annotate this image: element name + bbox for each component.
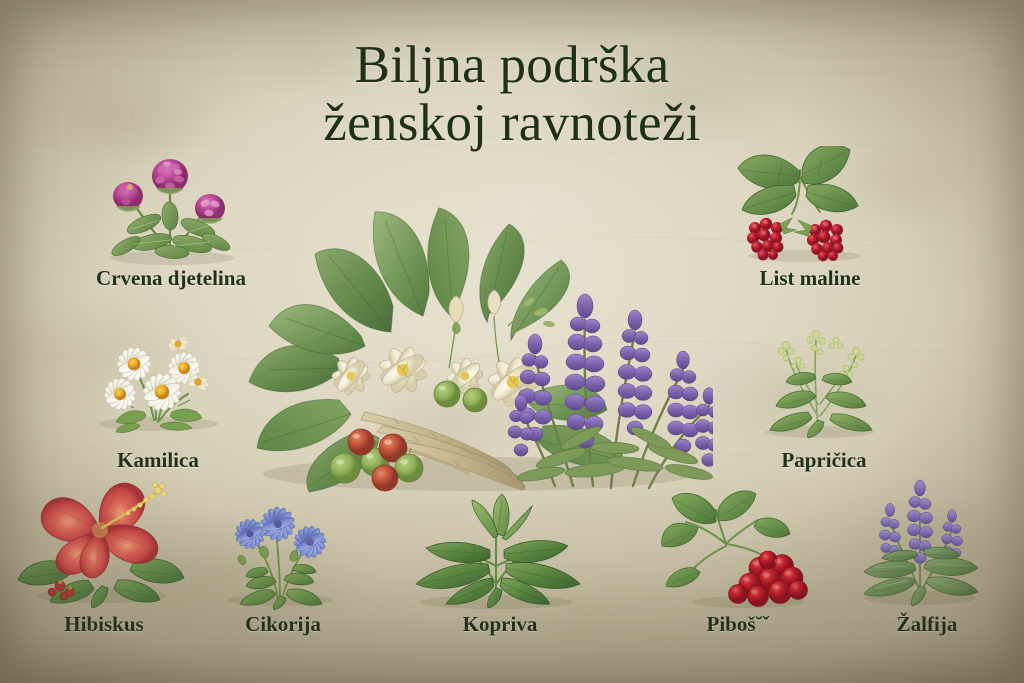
- specimen-crvena-djetelina: [82, 150, 262, 270]
- specimen-cikorija: [208, 492, 354, 610]
- label-cikorija: Cikorija: [198, 612, 368, 637]
- label-pibos: Piboš˘ˇ: [648, 612, 828, 637]
- nettle-illustration: [398, 492, 594, 612]
- red-berry-cluster-illustration: [660, 488, 826, 612]
- specimen-pibos: [660, 488, 826, 612]
- specimen-papricica: [748, 300, 894, 442]
- botanical-poster: Biljna podrška ženskoj ravnoteži: [0, 0, 1024, 683]
- label-list-maline: List maline: [690, 266, 930, 291]
- title-line-2: ženskoj ravnoteži: [0, 94, 1024, 152]
- hibiscus-illustration: [14, 468, 190, 608]
- label-kopriva: Kopriva: [410, 612, 590, 637]
- pepper-herb-illustration: [748, 300, 894, 442]
- raspberry-leaf-illustration: [722, 146, 882, 266]
- center-bouquet-illustration: [243, 186, 713, 496]
- specimen-kamilica: [74, 308, 240, 436]
- label-hibiskus: Hibiskus: [14, 612, 194, 637]
- red-clover-illustration: [82, 150, 262, 270]
- label-crvena-djetelina: Crvena djetelina: [56, 266, 286, 291]
- label-zalfija: Žalfija: [842, 612, 1012, 637]
- sage-illustration: [846, 470, 996, 610]
- specimen-kopriva: [398, 492, 594, 612]
- specimen-list-maline: [722, 146, 882, 266]
- page-title: Biljna podrška ženskoj ravnoteži: [0, 36, 1024, 153]
- chamomile-illustration: [74, 308, 240, 436]
- specimen-hibiskus: [14, 468, 190, 608]
- specimen-zalfija: [846, 470, 996, 610]
- center-arrangement: [243, 186, 713, 496]
- title-line-1: Biljna podrška: [355, 36, 670, 94]
- chicory-illustration: [208, 492, 354, 610]
